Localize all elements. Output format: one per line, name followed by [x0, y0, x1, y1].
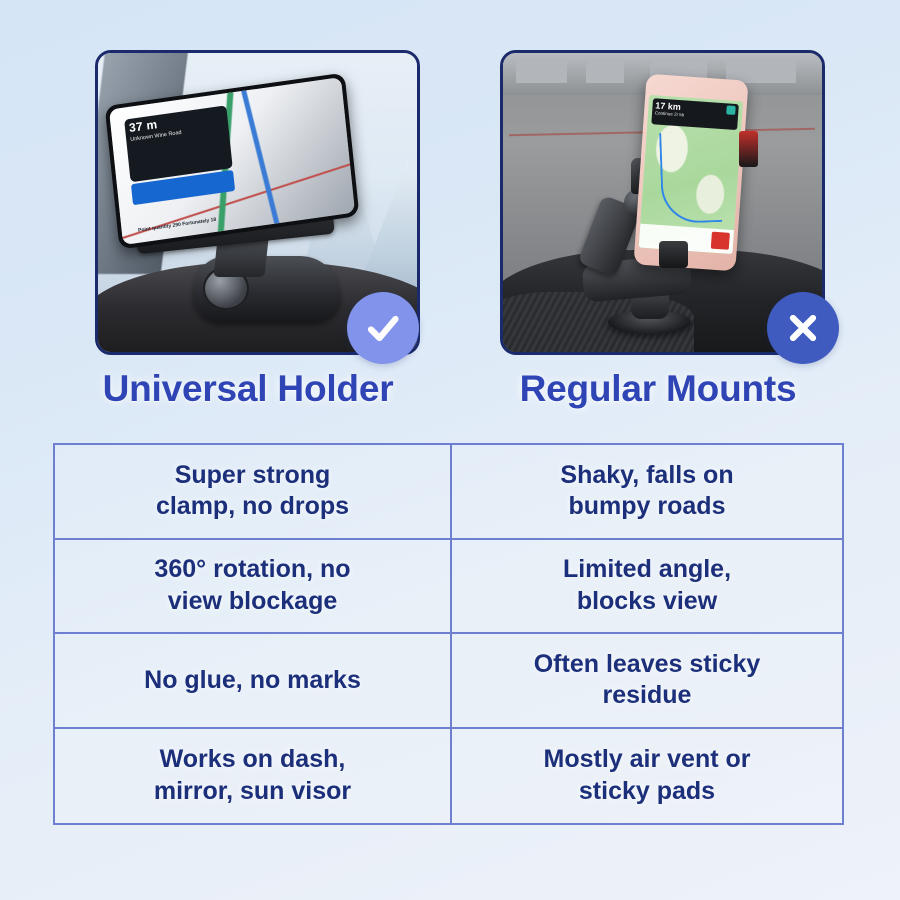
heading-regular-mounts: Regular Mounts [448, 368, 868, 410]
check-icon [362, 307, 404, 349]
cell-regular: Mostly air vent orsticky pads [452, 729, 842, 824]
background-building [586, 59, 624, 83]
cell-universal: 360° rotation, noview blockage [55, 540, 452, 633]
nav-badge-icon [727, 105, 737, 115]
cell-universal: Works on dash,mirror, sun visor [55, 729, 452, 824]
table-row: Super strongclamp, no drops Shaky, falls… [55, 445, 842, 540]
cell-universal: No glue, no marks [55, 634, 452, 727]
table-row: 360° rotation, noview blockage Limited a… [55, 540, 842, 635]
cross-badge [767, 292, 839, 364]
cell-regular: Limited angle,blocks view [452, 540, 842, 633]
background-building [516, 59, 567, 83]
comparison-table: Super strongclamp, no drops Shaky, falls… [53, 443, 844, 825]
table-row: Works on dash,mirror, sun visor Mostly a… [55, 729, 842, 824]
infographic-canvas: 37 m Unknown Wine Road Point quantity 29… [0, 0, 900, 900]
column-headings: Universal Holder Regular Mounts [0, 368, 900, 424]
cradle-grip-left [659, 241, 688, 268]
table-row: No glue, no marks Often leaves stickyres… [55, 634, 842, 729]
heading-universal-holder: Universal Holder [38, 368, 458, 410]
check-badge [347, 292, 419, 364]
cell-regular: Often leaves stickyresidue [452, 634, 842, 727]
cradle-grip-right [739, 131, 758, 167]
nav-end-button [710, 231, 730, 249]
cross-icon [783, 308, 823, 348]
cell-regular: Shaky, falls onbumpy roads [452, 445, 842, 538]
phone-in-regular-mount: 17 km Continue 2r 5b [634, 74, 749, 272]
phone-screen-left: 37 m Unknown Wine Road Point quantity 29… [109, 77, 355, 244]
phone-screen-right: 17 km Continue 2r 5b [639, 95, 744, 254]
cell-universal: Super strongclamp, no drops [55, 445, 452, 538]
